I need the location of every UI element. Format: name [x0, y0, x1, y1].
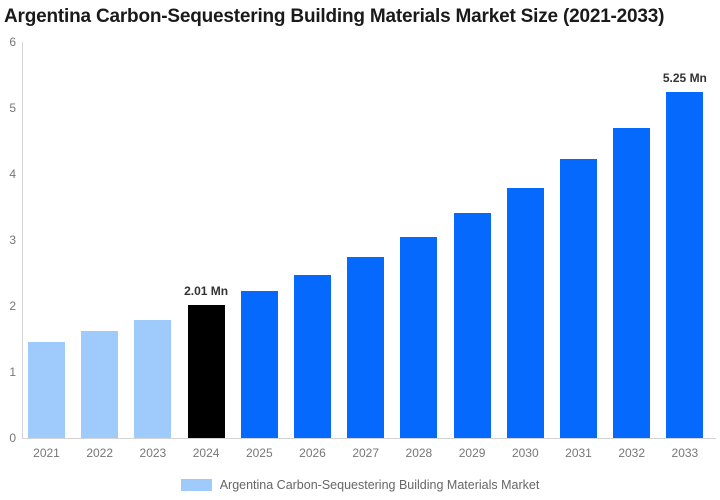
- x-axis-tick-label: 2033: [655, 446, 715, 460]
- chart-legend: Argentina Carbon-Sequestering Building M…: [0, 470, 720, 500]
- plot-area: 0123456 20212022202320242025202620272028…: [0, 0, 720, 470]
- x-axis-tick-label: 2025: [229, 446, 289, 460]
- x-axis-line: [22, 438, 716, 439]
- legend-label: Argentina Carbon-Sequestering Building M…: [220, 478, 540, 492]
- bar-chart: Argentina Carbon-Sequestering Building M…: [0, 0, 720, 500]
- bar[interactable]: [666, 92, 703, 439]
- bar[interactable]: [560, 159, 597, 438]
- x-axis-tick-label: 2032: [602, 446, 662, 460]
- legend-item[interactable]: Argentina Carbon-Sequestering Building M…: [181, 478, 540, 492]
- x-axis-tick-label: 2027: [336, 446, 396, 460]
- bar[interactable]: [454, 213, 491, 438]
- bar-value-label: 2.01 Mn: [161, 284, 251, 298]
- x-axis-tick-label: 2022: [70, 446, 130, 460]
- bar[interactable]: [400, 237, 437, 438]
- x-axis-tick-label: 2029: [442, 446, 502, 460]
- bar[interactable]: [507, 188, 544, 438]
- legend-swatch: [181, 479, 212, 491]
- x-axis-tick-label: 2028: [389, 446, 449, 460]
- bar[interactable]: [28, 342, 65, 438]
- bar[interactable]: [134, 320, 171, 438]
- x-axis-tick-label: 2026: [283, 446, 343, 460]
- bar[interactable]: [241, 291, 278, 438]
- x-axis-tick-label: 2031: [549, 446, 609, 460]
- bars-layer: [0, 0, 720, 438]
- bar-value-label: 5.25 Mn: [640, 71, 720, 85]
- bar[interactable]: [347, 257, 384, 438]
- x-axis-tick-label: 2021: [17, 446, 77, 460]
- x-axis-tick-label: 2023: [123, 446, 183, 460]
- x-axis-tick-label: 2030: [495, 446, 555, 460]
- bar[interactable]: [294, 275, 331, 438]
- x-axis-tick-label: 2024: [176, 446, 236, 460]
- bar[interactable]: [188, 305, 225, 438]
- bar[interactable]: [613, 128, 650, 438]
- bar[interactable]: [81, 331, 118, 438]
